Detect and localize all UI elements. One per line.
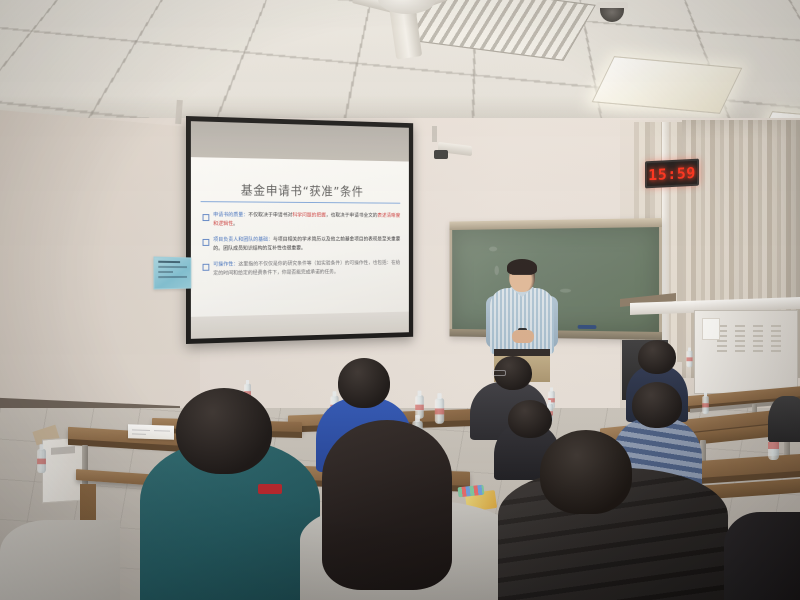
presenter-belt (494, 349, 550, 356)
person-light-shoulder (0, 520, 120, 600)
chalk-marker (578, 325, 597, 329)
person-head (638, 340, 676, 374)
water-bottle (435, 398, 444, 424)
presenter-hair (507, 259, 537, 275)
slide-bullet-item: 项目负责人和团队的基础：与项目相关的学术简历以及他之前基金项目的表现是至关重要的… (203, 236, 401, 254)
bullet-text: 申请书的质量：不仅取决于申请书对科学问题的把握，也取决于申请书全文的表述清晰度和… (213, 211, 400, 229)
projection-screen: 基金申请书“获准”条件 申请书的质量：不仅取决于申请书对科学问题的把握，也取决于… (186, 116, 413, 344)
water-bottle (686, 351, 692, 368)
person-head (540, 430, 632, 514)
projector-icon (434, 150, 448, 159)
bullet-text: 可操作性：这里指的不仅仅是你的研究条件等（如实验条件）的可操作性，也包括：在给定… (213, 259, 400, 279)
person-back-right-far (768, 396, 800, 442)
bullet-square-icon (203, 239, 210, 246)
presenter-shirt (490, 288, 554, 354)
person-hair (322, 420, 452, 590)
classroom-lecture-photo: 15:59 基金申请书“获准”条件 申请书的质量：不仅取决于申请书对科学问题的把… (0, 0, 800, 600)
sign-line (158, 276, 187, 278)
bullet-body: 。 (233, 221, 238, 227)
cabinet-vent (753, 325, 763, 353)
sign-line (158, 266, 187, 268)
wall-information-placard (154, 256, 192, 289)
bullet-text: 项目负责人和团队的基础：与项目相关的学术简历以及他之前基金项目的表现是至关重要的… (213, 236, 400, 254)
screen-mount-bracket (432, 126, 437, 142)
bullet-heading: 可操作性： (213, 262, 238, 268)
sign-line (158, 271, 173, 273)
bullet-square-icon (203, 264, 210, 271)
sign-line (158, 261, 180, 263)
presenter-hands (512, 330, 534, 343)
bullet-emphasis: 科学问题的把握 (292, 213, 326, 219)
clock-time: 15:59 (648, 163, 696, 183)
presenter-glasses (512, 274, 532, 279)
bullet-square-icon (203, 214, 210, 221)
person-head (632, 382, 682, 428)
box-label (51, 446, 75, 455)
person-head (338, 358, 390, 408)
posted-notice (702, 318, 720, 340)
bullet-body: 这里指的不仅仅是你的研究条件等（如实验条件）的可操作性， (238, 261, 372, 268)
cabinet-vent (771, 325, 781, 353)
screen-top-band (191, 121, 409, 161)
open-notebook (128, 424, 174, 440)
jacket-logo (258, 484, 282, 494)
bullet-body: ，也取决于申请书全文的 (326, 213, 377, 219)
person-head (176, 388, 272, 474)
person-head (508, 400, 552, 438)
cabinet-vent (735, 325, 745, 353)
water-bottle (37, 449, 46, 473)
slide-title-rule (201, 201, 401, 204)
slide-bullet-item: 可操作性：这里指的不仅仅是你的研究条件等（如实验条件）的可操作性，也包括：在给定… (203, 259, 401, 279)
person-foreground-dark-shoulder (724, 512, 800, 600)
water-bottle (702, 396, 709, 414)
slide-title: 基金申请书“获准”条件 (191, 179, 409, 200)
slide-surface: 基金申请书“获准”条件 申请书的质量：不仅取决于申请书对科学问题的把握，也取决于… (191, 157, 409, 339)
slide-bullet-item: 申请书的质量：不仅取决于申请书对科学问题的把握，也取决于申请书全文的表述清晰度和… (203, 211, 401, 229)
bullet-body: 不仅取决于申请书对 (248, 212, 292, 218)
eyeglasses-icon (492, 370, 506, 376)
slide-bullet-list: 申请书的质量：不仅取决于申请书对科学问题的把握，也取决于申请书全文的表述清晰度和… (203, 211, 401, 286)
bullet-heading: 项目负责人和团队的基础： (213, 237, 273, 243)
bullet-heading: 申请书的质量： (213, 212, 248, 218)
led-wall-clock: 15:59 (645, 159, 699, 189)
